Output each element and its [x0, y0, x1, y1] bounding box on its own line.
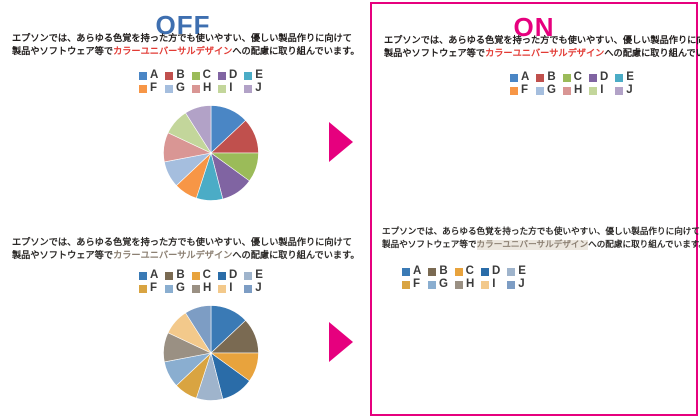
legend-label-g: G — [439, 279, 448, 290]
legend-swatch-h — [192, 85, 200, 93]
off-pie-chart-bottom — [163, 305, 259, 401]
legend-item-i: I — [218, 283, 237, 294]
legend-item-j: J — [507, 279, 526, 290]
off-para-top-line2-post: への配慮に取り組んでいます。 — [232, 46, 359, 57]
legend-item-c: C — [192, 70, 211, 81]
legend-item-g: G — [428, 279, 448, 290]
legend-item-i: I — [481, 279, 500, 290]
legend-item-j: J — [615, 85, 634, 96]
legend-item-a: A — [402, 266, 421, 277]
legend-swatch-g — [165, 285, 173, 293]
on-para-bot-highlight: カラーユニバーサルデザイン — [477, 240, 589, 250]
legend-label-b: B — [176, 70, 184, 81]
legend-swatch-b — [536, 74, 544, 82]
legend-swatch-c — [192, 272, 200, 280]
legend-label-j: J — [518, 279, 526, 290]
on-para-top-line2-post: への配慮に取り組んでいます。 — [604, 48, 700, 59]
legend-item-d: D — [481, 266, 500, 277]
on-legend-top: A B C D E F — [510, 72, 634, 96]
on-para-top-highlight: カラーユニバーサルデザイン — [485, 48, 604, 59]
off-para-top-highlight: カラーユニバーサルデザイン — [113, 46, 232, 57]
legend-swatch-b — [165, 72, 173, 80]
legend-swatch-f — [510, 87, 518, 95]
legend-swatch-a — [402, 268, 410, 276]
legend-item-f: F — [139, 83, 158, 94]
legend-label-g: G — [176, 83, 185, 94]
legend-swatch-g — [428, 281, 436, 289]
off-para-bot-line2-post: への配慮に取り組んでいます。 — [232, 250, 359, 261]
on-para-bot-line2-post: への配慮に取り組んでいます。 — [588, 240, 700, 250]
legend-swatch-c — [192, 72, 200, 80]
legend-row-2: F G H I J — [402, 279, 526, 290]
legend-row-2: F G H I J — [510, 85, 634, 96]
legend-swatch-b — [428, 268, 436, 276]
legend-label-h: H — [203, 283, 211, 294]
legend-row-1: A B C D E — [139, 270, 263, 281]
legend-label-i: I — [492, 279, 500, 290]
on-para-bot-line1: エプソンでは、あらゆる色覚を持った方でも使いやすい、優しい製品作りに向けて — [382, 227, 700, 237]
legend-item-c: C — [563, 72, 582, 83]
legend-swatch-j — [244, 285, 252, 293]
legend-label-i: I — [600, 85, 608, 96]
off-pie-chart-top — [163, 105, 259, 201]
on-para-top-line1: エプソンでは、あらゆる色覚を持った方でも使いやすい、優しい製品作りに向けて — [384, 35, 700, 46]
legend-item-c: C — [192, 270, 211, 281]
on-paragraph-bottom: エプソンでは、あらゆる色覚を持った方でも使いやすい、優しい製品作りに向けて 製品… — [382, 226, 700, 252]
legend-label-h: H — [203, 83, 211, 94]
legend-item-e: E — [507, 266, 526, 277]
legend-label-d: D — [600, 72, 608, 83]
off-panel: OFF エプソンでは、あらゆる色覚を持った方でも使いやすい、優しい製品作りに向け… — [0, 0, 366, 420]
legend-item-b: B — [165, 70, 184, 81]
off-para-bot-highlight: カラーユニバーサルデザイン — [113, 250, 232, 261]
legend-swatch-b — [165, 272, 173, 280]
legend-label-c: C — [466, 266, 474, 277]
legend-item-a: A — [139, 70, 158, 81]
legend-item-e: E — [615, 72, 634, 83]
legend-swatch-g — [165, 85, 173, 93]
legend-swatch-i — [218, 285, 226, 293]
arrow-right-icon-bottom — [329, 322, 353, 362]
off-paragraph-bottom: エプソンでは、あらゆる色覚を持った方でも使いやすい、優しい製品作りに向けて 製品… — [12, 236, 360, 262]
legend-swatch-e — [507, 268, 515, 276]
legend-label-d: D — [229, 70, 237, 81]
legend-label-c: C — [203, 70, 211, 81]
legend-swatch-f — [139, 285, 147, 293]
legend-item-e: E — [244, 70, 263, 81]
legend-swatch-h — [455, 281, 463, 289]
on-panel: ON エプソンでは、あらゆる色覚を持った方でも使いやすい、優しい製品作りに向けて… — [370, 2, 698, 416]
legend-row-1: A B C D E — [510, 72, 634, 83]
legend-swatch-c — [455, 268, 463, 276]
legend-swatch-i — [218, 85, 226, 93]
legend-label-a: A — [413, 266, 421, 277]
legend-item-d: D — [218, 70, 237, 81]
legend-swatch-d — [481, 268, 489, 276]
legend-item-f: F — [402, 279, 421, 290]
off-paragraph-top: エプソンでは、あらゆる色覚を持った方でも使いやすい、優しい製品作りに向けて 製品… — [12, 32, 360, 58]
legend-swatch-e — [244, 72, 252, 80]
legend-swatch-h — [563, 87, 571, 95]
legend-swatch-a — [139, 72, 147, 80]
legend-swatch-i — [589, 87, 597, 95]
legend-swatch-d — [589, 74, 597, 82]
legend-label-d: D — [492, 266, 500, 277]
legend-label-f: F — [150, 83, 158, 94]
legend-row-2: F G H I J — [139, 83, 263, 94]
legend-item-b: B — [428, 266, 447, 277]
legend-item-e: E — [244, 270, 263, 281]
legend-row-2: F G H I J — [139, 283, 263, 294]
legend-item-h: H — [192, 283, 211, 294]
legend-label-a: A — [150, 70, 158, 81]
legend-label-a: A — [521, 72, 529, 83]
legend-label-e: E — [255, 70, 263, 81]
legend-item-g: G — [165, 283, 185, 294]
legend-swatch-j — [244, 85, 252, 93]
legend-swatch-j — [507, 281, 515, 289]
legend-swatch-g — [536, 87, 544, 95]
legend-label-e: E — [255, 270, 263, 281]
legend-item-h: H — [455, 279, 474, 290]
legend-item-f: F — [510, 85, 529, 96]
legend-label-h: H — [574, 85, 582, 96]
legend-item-d: D — [218, 270, 237, 281]
legend-label-e: E — [518, 266, 526, 277]
legend-label-f: F — [521, 85, 529, 96]
legend-label-c: C — [574, 72, 582, 83]
legend-label-j: J — [255, 283, 263, 294]
legend-label-i: I — [229, 83, 237, 94]
legend-item-h: H — [192, 83, 211, 94]
legend-label-b: B — [439, 266, 447, 277]
legend-label-c: C — [203, 270, 211, 281]
legend-swatch-e — [244, 272, 252, 280]
off-legend-top: A B C D E F — [139, 70, 263, 94]
legend-label-i: I — [229, 283, 237, 294]
screenshot-root: OFF エプソンでは、あらゆる色覚を持った方でも使いやすい、優しい製品作りに向け… — [0, 0, 700, 420]
legend-item-h: H — [563, 85, 582, 96]
legend-swatch-a — [139, 272, 147, 280]
legend-swatch-f — [139, 85, 147, 93]
legend-item-b: B — [165, 270, 184, 281]
legend-swatch-f — [402, 281, 410, 289]
off-para-top-line2-pre: 製品やソフトウェア等で — [12, 46, 113, 57]
legend-item-a: A — [510, 72, 529, 83]
legend-item-c: C — [455, 266, 474, 277]
off-legend-bottom: A B C D E F — [139, 270, 263, 294]
legend-row-1: A B C D E — [139, 70, 263, 81]
legend-row-1: A B C D E — [402, 266, 526, 277]
legend-item-j: J — [244, 83, 263, 94]
legend-label-e: E — [626, 72, 634, 83]
off-para-bot-line1: エプソンでは、あらゆる色覚を持った方でも使いやすい、優しい製品作りに向けて — [12, 237, 352, 248]
legend-item-i: I — [218, 83, 237, 94]
legend-label-g: G — [176, 283, 185, 294]
legend-swatch-j — [615, 87, 623, 95]
off-para-bot-line2-pre: 製品やソフトウェア等で — [12, 250, 113, 261]
off-para-top-line1: エプソンでは、あらゆる色覚を持った方でも使いやすい、優しい製品作りに向けて — [12, 33, 352, 44]
legend-item-f: F — [139, 283, 158, 294]
legend-label-b: B — [547, 72, 555, 83]
legend-item-a: A — [139, 270, 158, 281]
legend-swatch-d — [218, 272, 226, 280]
legend-item-i: I — [589, 85, 608, 96]
legend-item-g: G — [165, 83, 185, 94]
legend-item-j: J — [244, 283, 263, 294]
legend-label-j: J — [255, 83, 263, 94]
arrow-right-icon-top — [329, 122, 353, 162]
legend-label-h: H — [466, 279, 474, 290]
on-paragraph-top: エプソンでは、あらゆる色覚を持った方でも使いやすい、優しい製品作りに向けて 製品… — [384, 34, 700, 60]
legend-label-g: G — [547, 85, 556, 96]
legend-label-d: D — [229, 270, 237, 281]
legend-item-g: G — [536, 85, 556, 96]
on-para-bot-line2-pre: 製品やソフトウェア等で — [382, 240, 477, 250]
legend-label-f: F — [413, 279, 421, 290]
legend-swatch-i — [481, 281, 489, 289]
legend-swatch-h — [192, 285, 200, 293]
legend-label-j: J — [626, 85, 634, 96]
legend-label-a: A — [150, 270, 158, 281]
legend-swatch-a — [510, 74, 518, 82]
legend-swatch-c — [563, 74, 571, 82]
on-para-top-line2-pre: 製品やソフトウェア等で — [384, 48, 485, 59]
on-legend-bottom: A B C D E F — [402, 266, 526, 290]
legend-item-b: B — [536, 72, 555, 83]
legend-label-b: B — [176, 270, 184, 281]
legend-swatch-e — [615, 74, 623, 82]
legend-item-d: D — [589, 72, 608, 83]
legend-swatch-d — [218, 72, 226, 80]
legend-label-f: F — [150, 283, 158, 294]
